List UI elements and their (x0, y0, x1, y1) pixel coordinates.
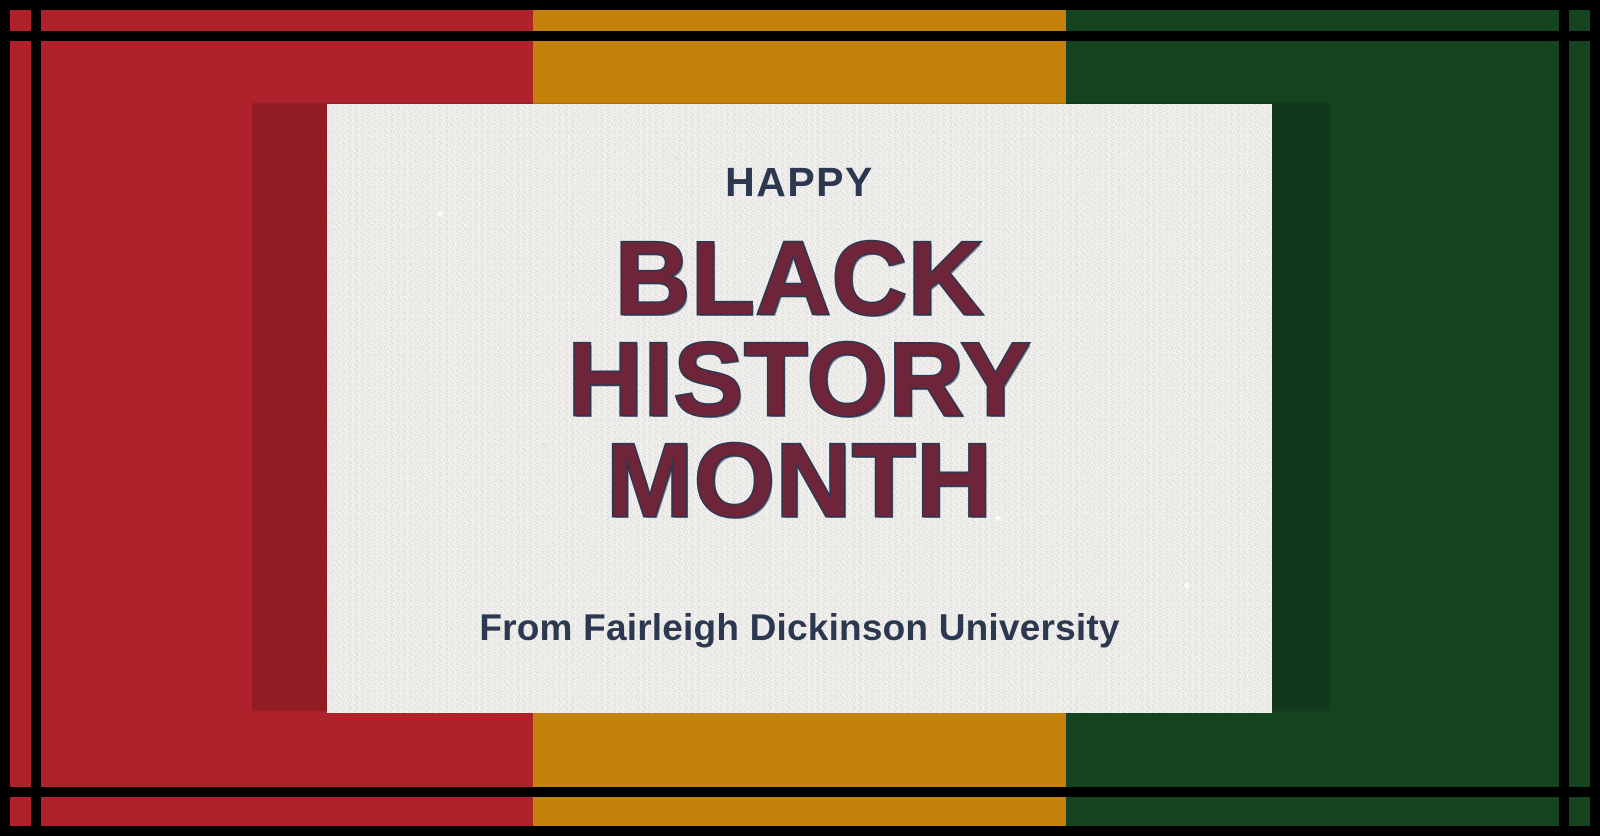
attribution-text: From Fairleigh Dickinson University (327, 609, 1272, 646)
headline-block: BLACK HISTORY MONTH (327, 229, 1272, 532)
frame-outer-left (0, 0, 10, 836)
frame-outer-top (0, 0, 1600, 10)
frame-outer-right (1590, 0, 1600, 836)
paper-card: HAPPY BLACK HISTORY MONTH From Fairleigh… (327, 104, 1272, 713)
frame-inner-right (1559, 0, 1569, 836)
headline-line-3: MONTH (327, 431, 1272, 532)
headline-line-1: BLACK (327, 229, 1272, 330)
eyebrow-text: HAPPY (725, 162, 874, 203)
frame-inner-left (31, 0, 41, 836)
headline-line-2: HISTORY (327, 330, 1272, 431)
frame-outer-bottom (0, 826, 1600, 836)
frame-inner-top (0, 31, 1600, 41)
poster-canvas: HAPPY BLACK HISTORY MONTH From Fairleigh… (0, 0, 1600, 836)
frame-inner-bottom (0, 787, 1600, 797)
